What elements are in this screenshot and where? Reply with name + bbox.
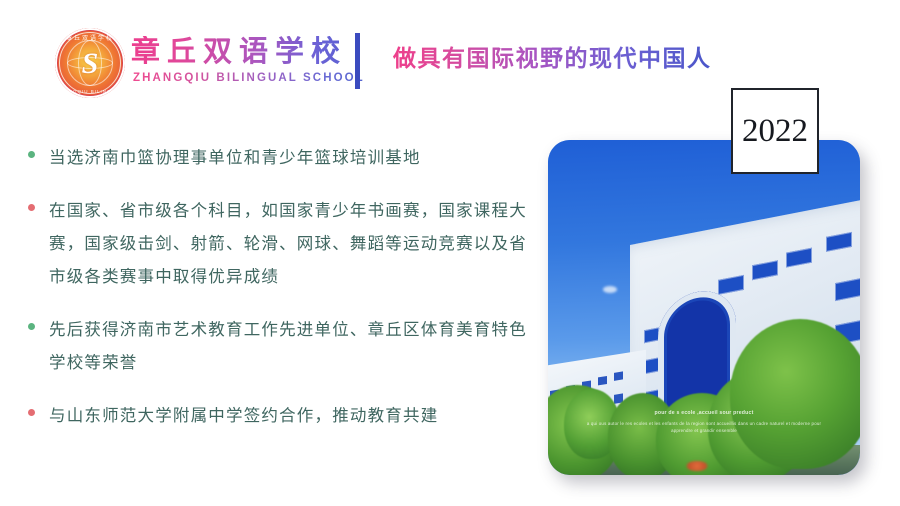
- emblem-letter: S: [82, 49, 99, 79]
- header-tagline: 做具有国际视野的现代中国人: [393, 46, 712, 71]
- cloud-icon: [603, 286, 617, 293]
- bullet-dot-icon: [28, 409, 35, 416]
- school-emblem-icon: 章丘双语学校 S ZHANGQIU BILINGUAL: [55, 28, 125, 98]
- year-badge-value: 2022: [742, 115, 808, 148]
- brand-name-english: ZHANGQIU BILINGUAL SCHOOL: [133, 72, 365, 84]
- list-item: 先后获得济南市艺术教育工作先进单位、章丘区体育美育特色学校等荣誉: [28, 313, 538, 379]
- bullet-dot-icon: [28, 151, 35, 158]
- list-item: 与山东师范大学附属中学签约合作，推动教育共建: [28, 399, 538, 432]
- header-vertical-divider: [355, 33, 360, 89]
- emblem-top-text: 章丘双语学校: [55, 33, 125, 42]
- list-item-text: 先后获得济南市艺术教育工作先进单位、章丘区体育美育特色学校等荣誉: [49, 313, 529, 379]
- tree-icon: [730, 319, 860, 469]
- list-item-text: 当选济南巾篮协理事单位和青少年篮球培训基地: [49, 141, 529, 174]
- list-item-text: 在国家、省市级各个科目，如国家青少年书画赛，国家课程大赛，国家级击剑、射箭、轮滑…: [49, 194, 529, 293]
- brand-block: 章丘双语学校 ZHANGQIU BILINGUAL SCHOOL: [131, 36, 365, 84]
- brand-name-chinese: 章丘双语学校: [131, 36, 365, 68]
- list-item: 当选济南巾篮协理事单位和青少年篮球培训基地: [28, 141, 538, 174]
- achievements-list: 当选济南巾篮协理事单位和青少年篮球培训基地 在国家、省市级各个科目，如国家青少年…: [28, 141, 538, 452]
- bullet-dot-icon: [28, 323, 35, 330]
- bullet-dot-icon: [28, 204, 35, 211]
- campus-photo: pour de s ecole ,accueil sour preduct a …: [548, 140, 860, 475]
- year-badge: 2022: [731, 88, 819, 174]
- flowerbed: [686, 461, 708, 471]
- emblem-bottom-text: ZHANGQIU BILINGUAL: [55, 89, 125, 94]
- list-item: 在国家、省市级各个科目，如国家青少年书画赛，国家课程大赛，国家级击剑、射箭、轮滑…: [28, 194, 538, 293]
- campus-photo-image: pour de s ecole ,accueil sour preduct a …: [548, 140, 860, 475]
- list-item-text: 与山东师范大学附属中学签约合作，推动教育共建: [49, 399, 529, 432]
